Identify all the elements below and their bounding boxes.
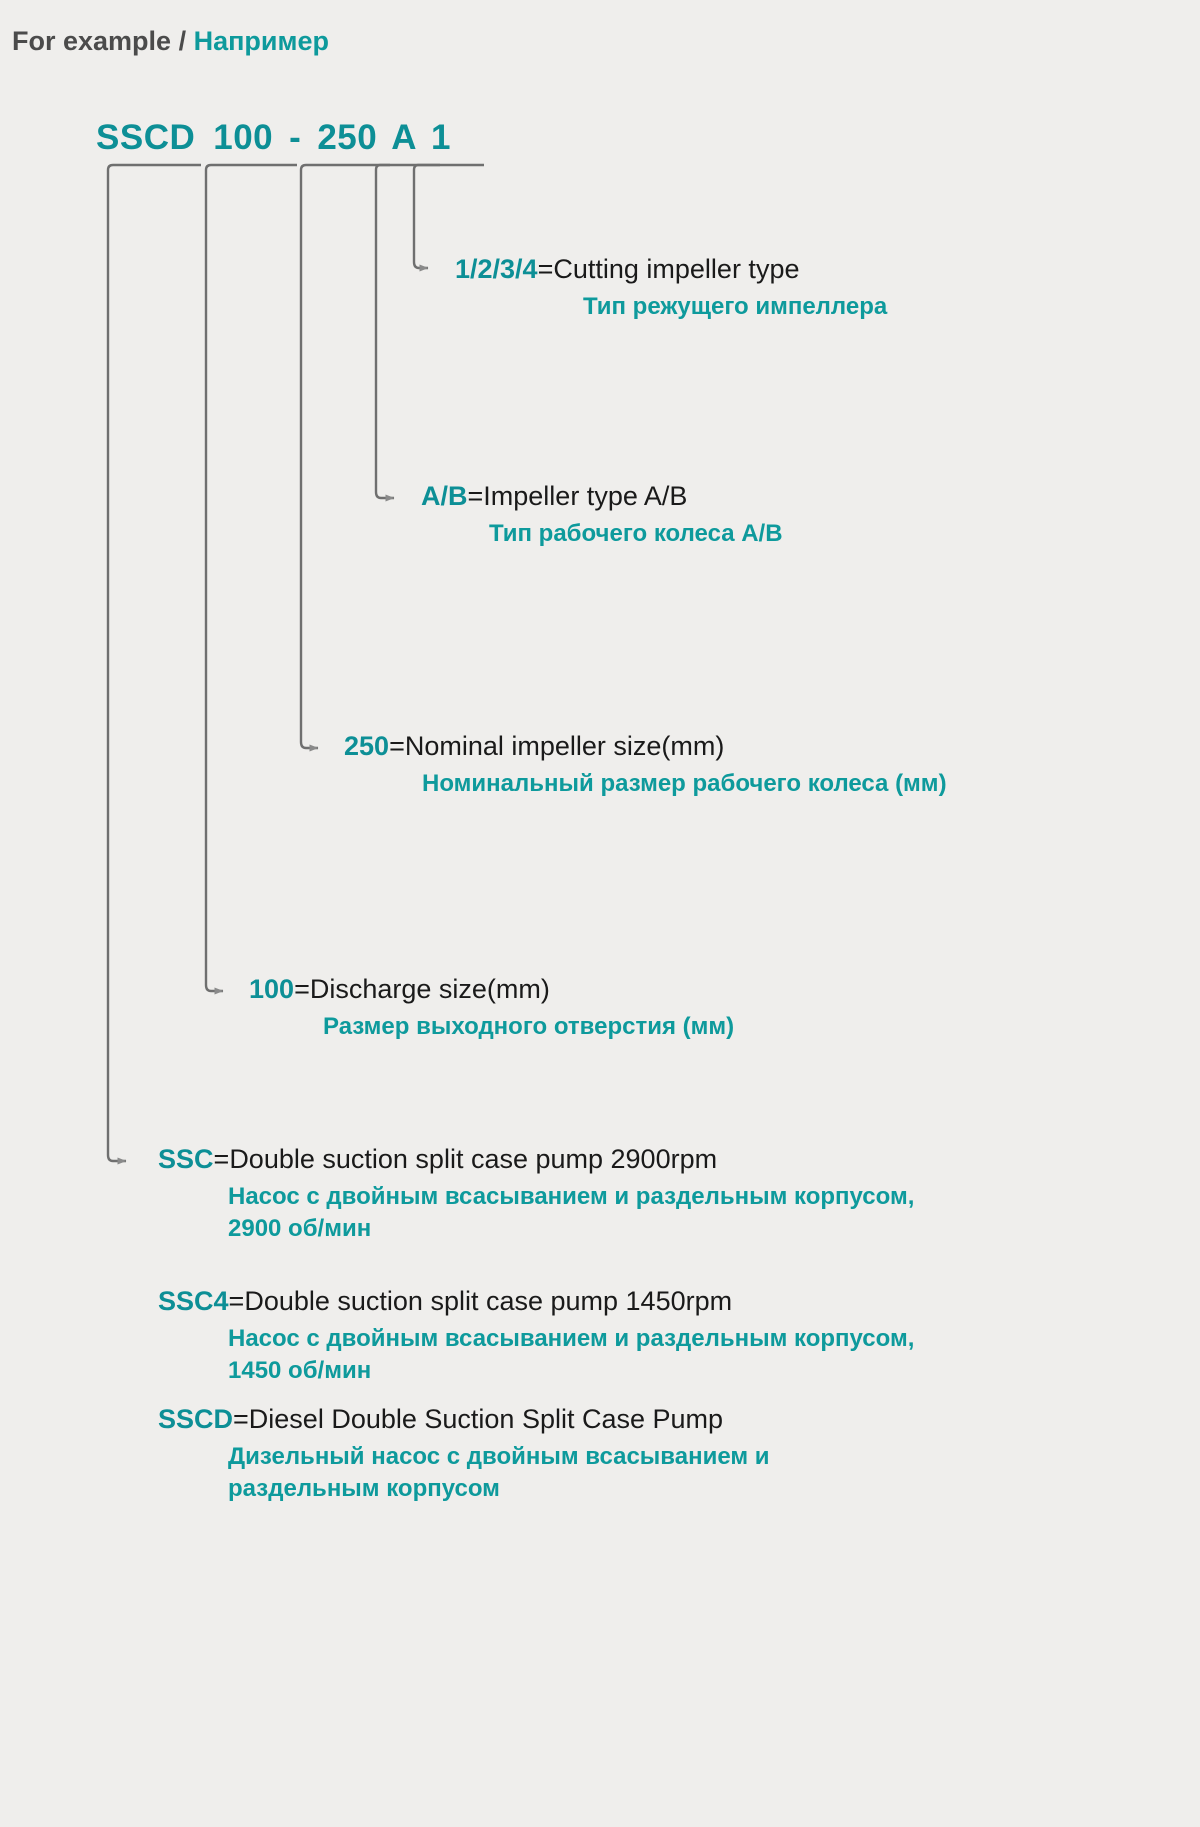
annotation-ru-block: Насос с двойным всасыванием и раздельным… [158,1323,914,1387]
annotation-en-line: A/B=Impeller type A/B [421,480,783,513]
leader-pump-family [108,165,201,1161]
annotation-ru-block: Размер выходного отверстия (мм) [249,1011,734,1043]
leader-impeller-type [376,165,440,498]
annotation-ru-block: Насос с двойным всасыванием и раздельным… [158,1181,914,1245]
annotation-en-line: SSCD=Diesel Double Suction Split Case Pu… [158,1403,770,1436]
annotation-ru-line: Дизельный насос с двойным всасыванием и [228,1441,770,1473]
annotation-ru-block: Номинальный размер рабочего колеса (мм) [344,768,947,800]
leader-discharge-size [206,165,297,991]
annotation-en-line: SSC=Double suction split case pump 2900r… [158,1143,914,1176]
annotation-en-text: Cutting impeller type [553,254,799,284]
annotation-key: 250 [344,731,389,761]
annotation-ru-line: Насос с двойным всасыванием и раздельным… [228,1181,914,1213]
annotation-equals: = [389,731,405,761]
code-segment-dash: - [289,118,301,158]
annotation-en-text: Nominal impeller size(mm) [405,731,725,761]
annotation-discharge-size: 100=Discharge size(mm) Размер выходного … [249,973,734,1043]
page-title-separator: / [179,26,187,56]
annotation-en-text: Discharge size(mm) [310,974,550,1004]
annotation-ru-block: Тип рабочего колеса А/В [421,518,783,550]
page-title: For example / Например [12,26,329,57]
annotation-ru-line: Тип режущего импеллера [583,291,887,323]
annotation-ru-line: Размер выходного отверстия (мм) [323,1011,734,1043]
annotation-ru-line: раздельным корпусом [228,1473,770,1505]
annotation-en-text: Diesel Double Suction Split Case Pump [249,1404,723,1434]
annotation-en-text: Double suction split case pump 2900rpm [229,1144,717,1174]
annotation-equals: = [229,1286,245,1316]
annotation-key: SSC [158,1144,214,1174]
annotation-equals: = [468,481,484,511]
annotation-ssc4-1450: SSC4=Double suction split case pump 1450… [158,1285,914,1387]
annotation-equals: = [294,974,310,1004]
annotation-equals: = [233,1404,249,1434]
annotation-en-line: SSC4=Double suction split case pump 1450… [158,1285,914,1318]
page-title-russian: Например [194,26,329,56]
code-segment-250: 250 [317,118,377,158]
code-segment-a: A [391,118,417,158]
annotation-ru-line: 1450 об/мин [228,1355,914,1387]
annotation-key: 1/2/3/4 [455,254,538,284]
annotation-ru-line: Насос с двойным всасыванием и раздельным… [228,1323,914,1355]
annotation-key: SSCD [158,1404,233,1434]
annotation-ru-line: 2900 об/мин [228,1213,914,1245]
code-segment-sscd: SSCD [96,118,195,158]
model-code: SSCD100-250A1 [96,118,451,158]
annotation-impeller-type: A/B=Impeller type A/B Тип рабочего колес… [421,480,783,550]
annotation-cutting-impeller-type: 1/2/3/4=Cutting impeller type Тип режуще… [455,253,887,323]
annotation-sscd-diesel: SSCD=Diesel Double Suction Split Case Pu… [158,1403,770,1505]
annotation-en-text: Double suction split case pump 1450rpm [244,1286,732,1316]
code-segment-100: 100 [213,118,273,158]
annotation-ru-line: Номинальный размер рабочего колеса (мм) [422,768,947,800]
page-title-english: For example [12,26,171,56]
annotation-en-line: 100=Discharge size(mm) [249,973,734,1006]
annotation-equals: = [214,1144,230,1174]
annotation-key: A/B [421,481,468,511]
annotation-en-line: 250=Nominal impeller size(mm) [344,730,947,763]
annotation-key: SSC4 [158,1286,229,1316]
annotation-ssc-2900: SSC=Double suction split case pump 2900r… [158,1143,914,1245]
annotation-equals: = [538,254,554,284]
leader-nominal-size [301,165,390,748]
annotation-ru-block: Дизельный насос с двойным всасыванием и … [158,1441,770,1505]
diagram-canvas: For example / Например SSCD100-250A1 [0,0,1200,1827]
annotation-nominal-impeller-size: 250=Nominal impeller size(mm) Номинальны… [344,730,947,800]
annotation-en-text: Impeller type A/B [483,481,687,511]
annotation-ru-line: Тип рабочего колеса А/В [489,518,783,550]
annotation-ru-block: Тип режущего импеллера [455,291,887,323]
annotation-en-line: 1/2/3/4=Cutting impeller type [455,253,887,286]
annotation-key: 100 [249,974,294,1004]
code-segment-1: 1 [431,118,451,158]
